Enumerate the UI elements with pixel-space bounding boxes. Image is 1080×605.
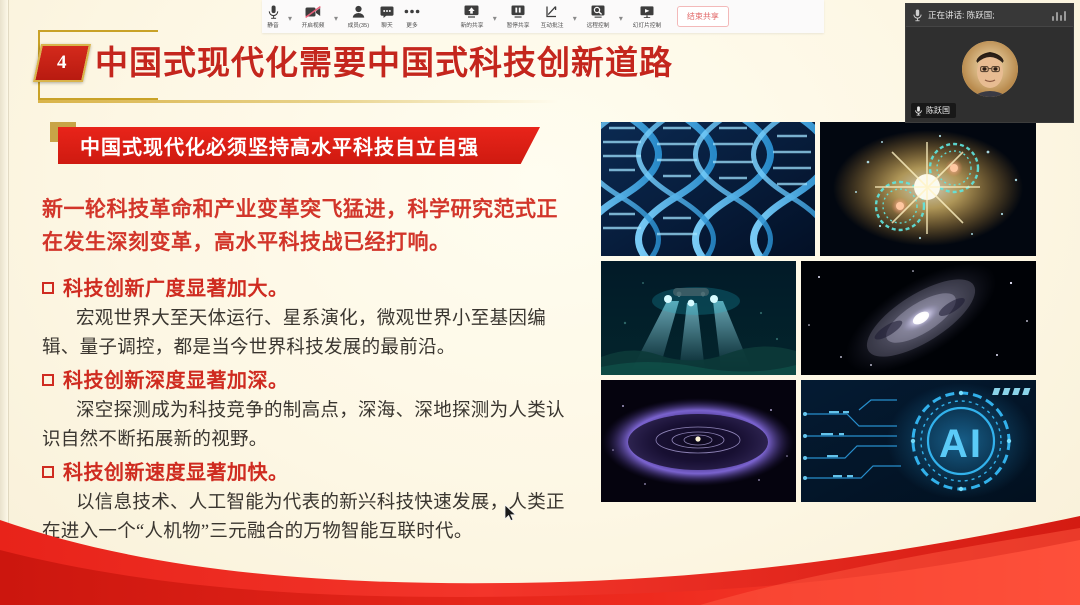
bullet-body-2: 深空探测成为科技竞争的制高点，深海、深地探测为人类认识自然不断拓展新的视野。 bbox=[42, 397, 577, 455]
bottom-red-ribbon bbox=[0, 510, 1080, 605]
dna-double-helix-image bbox=[601, 122, 815, 256]
banner-text: 中国式现代化必须坚持高水平科技自立自强 bbox=[80, 131, 479, 160]
toolbar-mute-label: 静音 bbox=[267, 20, 278, 29]
page-title: 中国式现代化需要中国式科技创新道路 bbox=[95, 36, 673, 84]
toolbar-more-label: 更多 bbox=[406, 20, 417, 29]
microphone-icon bbox=[268, 4, 279, 19]
pause-share-icon bbox=[511, 4, 525, 19]
highlight-banner: 中国式现代化必须坚持高水平科技自立自强 bbox=[58, 127, 540, 164]
video-thumbnail-panel[interactable]: 正在讲话: 陈跃国; bbox=[905, 3, 1074, 123]
bullet-body-1: 宏观世界大至天体运行、星系演化，微观世界小至基因编辑、量子调控，都是当今世界科技… bbox=[42, 305, 577, 363]
galaxy-image bbox=[801, 261, 1036, 375]
image-grid: AI bbox=[601, 122, 1036, 502]
bullet-heading-3: 科技创新速度显著加快。 bbox=[42, 459, 577, 487]
title-underline bbox=[38, 100, 558, 103]
toolbar-new-share-label: 新的共享 bbox=[460, 20, 483, 29]
chat-icon bbox=[380, 4, 394, 19]
toolbar-chat-label: 聊天 bbox=[381, 20, 392, 29]
toolbar-participants-button[interactable]: 成员(35) bbox=[342, 0, 375, 33]
banner-wrapper: 中国式现代化必须坚持高水平科技自立自强 bbox=[50, 122, 550, 164]
toolbar-participants-label: 成员(35) bbox=[348, 20, 370, 29]
mute-options-chevron-down-icon[interactable]: ▾ bbox=[284, 14, 296, 23]
particle-collision-image bbox=[820, 122, 1036, 256]
square-bullet-icon bbox=[42, 282, 54, 294]
toolbar-slide-control-label: 幻灯片控制 bbox=[633, 20, 662, 29]
bullet-heading-2: 科技创新深度显著加深。 bbox=[42, 367, 577, 395]
toolbar-remote-control-label: 远程控制 bbox=[586, 20, 609, 29]
toolbar-annotate-button[interactable]: 互动批注 bbox=[535, 0, 569, 33]
toolbar-annotate-label: 互动批注 bbox=[540, 20, 563, 29]
deep-sea-submersible-image bbox=[601, 261, 796, 375]
toolbar-new-share-button[interactable]: 新的共享 bbox=[455, 0, 489, 33]
bullet-heading-text: 科技创新深度显著加深。 bbox=[63, 367, 289, 395]
video-off-icon bbox=[305, 4, 321, 19]
annotate-options-chevron-down-icon[interactable]: ▾ bbox=[569, 14, 581, 23]
participant-name-badge: 陈跃国 bbox=[911, 103, 956, 118]
microphone-icon bbox=[913, 9, 922, 22]
section-number-badge: 4 bbox=[33, 44, 91, 82]
video-panel-body: 陈跃国 bbox=[906, 27, 1073, 123]
mouse-cursor bbox=[504, 504, 517, 522]
toolbar-start-video-label: 开启视频 bbox=[302, 20, 325, 29]
intro-paragraph: 新一轮科技革命和产业变革突飞猛进，科学研究范式正在发生深刻变革，高水平科技战已经… bbox=[42, 193, 572, 259]
remote-control-icon bbox=[591, 4, 605, 19]
audio-waveform-icon bbox=[1052, 10, 1067, 21]
ai-circuit-image: AI bbox=[801, 380, 1036, 502]
bullet-heading-text: 科技创新速度显著加快。 bbox=[63, 459, 289, 487]
bullet-heading-1: 科技创新广度显著加大。 bbox=[42, 275, 577, 303]
video-panel-header: 正在讲话: 陈跃国; bbox=[906, 4, 1073, 27]
share-screen-icon bbox=[464, 4, 479, 19]
toolbar-chat-button[interactable]: 聊天 bbox=[375, 0, 399, 33]
video-options-chevron-down-icon[interactable]: ▾ bbox=[330, 14, 342, 23]
slide-control-icon bbox=[640, 4, 654, 19]
toolbar-slide-control-button[interactable]: 幻灯片控制 bbox=[627, 0, 667, 33]
toolbar-more-button[interactable]: 更多 bbox=[399, 0, 425, 33]
share-options-chevron-down-icon[interactable]: ▾ bbox=[489, 14, 501, 23]
square-bullet-icon bbox=[42, 466, 54, 478]
accretion-disk-image bbox=[601, 380, 796, 502]
toolbar-start-video-button[interactable]: 开启视频 bbox=[296, 0, 330, 33]
svg-text:AI: AI bbox=[939, 422, 983, 466]
participant-name-label: 陈跃国 bbox=[926, 105, 950, 116]
section-number: 4 bbox=[57, 52, 67, 74]
toolbar-remote-control-button[interactable]: 远程控制 bbox=[581, 0, 615, 33]
more-dots-icon bbox=[404, 4, 420, 19]
remote-options-chevron-down-icon[interactable]: ▾ bbox=[615, 14, 627, 23]
meeting-toolbar: 静音 ▾ 开启视频 ▾ 成员(35) bbox=[262, 0, 824, 33]
toolbar-pause-share-button[interactable]: 暂停共享 bbox=[501, 0, 535, 33]
microphone-icon bbox=[915, 106, 922, 116]
square-bullet-icon bbox=[42, 374, 54, 386]
bullet-heading-text: 科技创新广度显著加大。 bbox=[63, 275, 289, 303]
avatar bbox=[962, 41, 1018, 97]
speaking-status-label: 正在讲话: 陈跃国; bbox=[928, 9, 995, 21]
toolbar-pause-share-label: 暂停共享 bbox=[506, 20, 529, 29]
toolbar-mute-button[interactable]: 静音 bbox=[262, 0, 284, 33]
end-share-button[interactable]: 结束共享 bbox=[677, 6, 729, 27]
participants-icon bbox=[352, 4, 365, 19]
annotate-icon bbox=[545, 4, 558, 19]
